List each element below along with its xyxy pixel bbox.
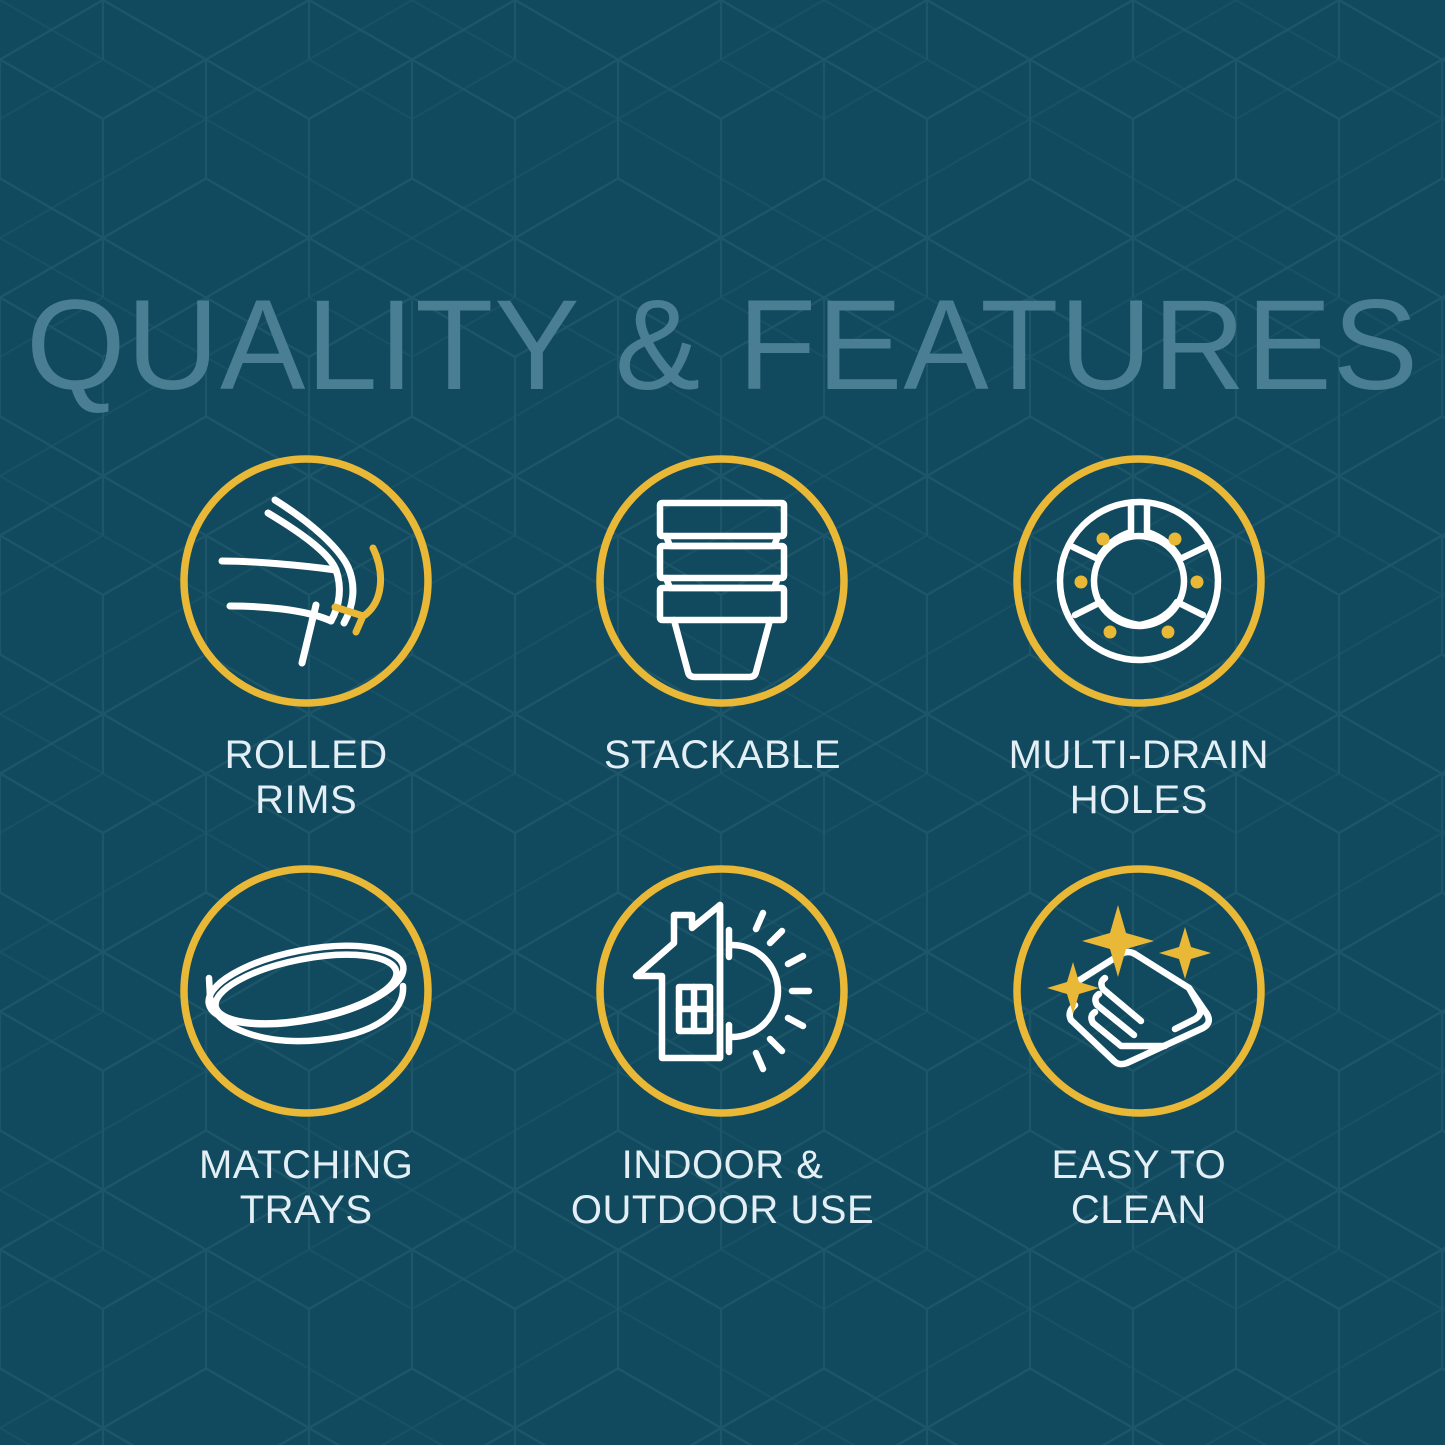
feature-item-stackable[interactable]: STACKABLE	[514, 455, 930, 865]
wiping-hand-icon	[1013, 865, 1265, 1117]
drain-holes-icon	[1013, 455, 1265, 707]
indoor-outdoor-badge	[596, 865, 848, 1117]
page-title: QUALITY & FEATURES	[0, 282, 1445, 410]
feature-item-multi-drain-holes[interactable]: MULTI-DRAIN HOLES	[931, 455, 1347, 865]
multi-drain-holes-badge	[1013, 455, 1265, 707]
easy-to-clean-badge	[1013, 865, 1265, 1117]
feature-item-indoor-outdoor[interactable]: INDOOR & OUTDOOR USE	[514, 865, 930, 1275]
feature-label-matching-trays: MATCHING TRAYS	[199, 1143, 413, 1233]
rolled-rims-badge	[180, 455, 432, 707]
infographic-panel: QUALITY & FEATURES	[0, 0, 1445, 1445]
rolled-rim-icon	[180, 455, 432, 707]
feature-item-rolled-rims[interactable]: ROLLED RIMS	[98, 455, 514, 865]
feature-label-easy-to-clean: EASY TO CLEAN	[1051, 1143, 1226, 1233]
saucer-tray-icon	[180, 865, 432, 1117]
feature-label-rolled-rims: ROLLED RIMS	[225, 733, 388, 823]
stackable-badge	[596, 455, 848, 707]
matching-trays-badge	[180, 865, 432, 1117]
feature-label-multi-drain-holes: MULTI-DRAIN HOLES	[1009, 733, 1269, 823]
feature-label-indoor-outdoor: INDOOR & OUTDOOR USE	[571, 1143, 874, 1233]
feature-item-matching-trays[interactable]: MATCHING TRAYS	[98, 865, 514, 1275]
stacked-pots-icon	[596, 455, 848, 707]
house-sun-icon	[596, 865, 848, 1117]
feature-item-easy-to-clean[interactable]: EASY TO CLEAN	[931, 865, 1347, 1275]
feature-grid: ROLLED RIMS STACKABLE	[98, 455, 1347, 1275]
feature-label-stackable: STACKABLE	[604, 733, 841, 778]
